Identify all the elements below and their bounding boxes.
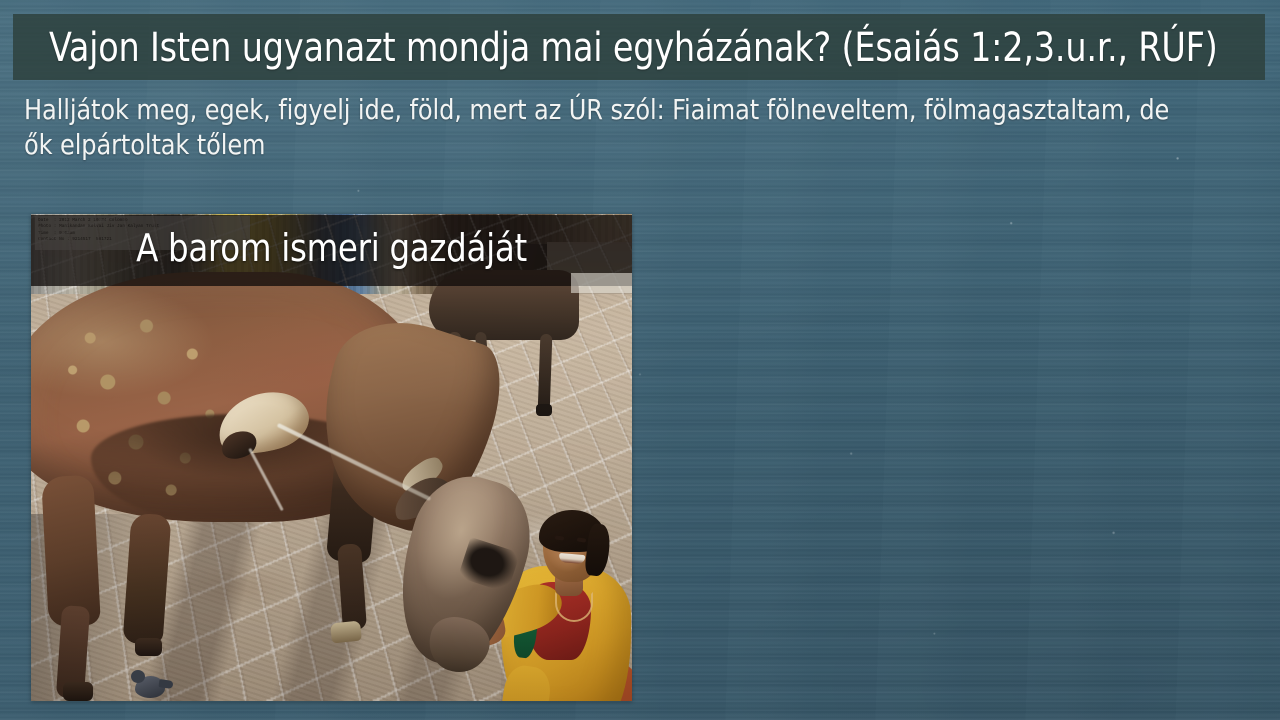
photo-cow-front-hoof-2 xyxy=(135,638,162,656)
photo-pigeon-head xyxy=(131,670,145,683)
title-banner: Vajon Isten ugyanazt mondja mai egyházán… xyxy=(13,14,1265,80)
body-paragraph: Hallјátok meg, egek, figyelj ide, föld, … xyxy=(24,92,1170,162)
photo-background-cow-hoof xyxy=(536,404,552,416)
photo-cow-front-hoof xyxy=(63,682,93,701)
photo-caption-band: A barom ismeri gazdáját xyxy=(31,215,632,286)
photo-cow-front-leg xyxy=(41,475,101,628)
slide: Vajon Isten ugyanazt mondja mai egyházán… xyxy=(0,0,1280,720)
photo-illustration: Date : 2012 March 2 10:34 Colombo Photo … xyxy=(31,214,632,701)
photo-caption-text: A barom ismeri gazdáját xyxy=(46,215,617,281)
page-title: Vajon Isten ugyanazt mondja mai egyházán… xyxy=(49,25,1165,71)
photo-cow-rear-hoof xyxy=(330,620,362,643)
